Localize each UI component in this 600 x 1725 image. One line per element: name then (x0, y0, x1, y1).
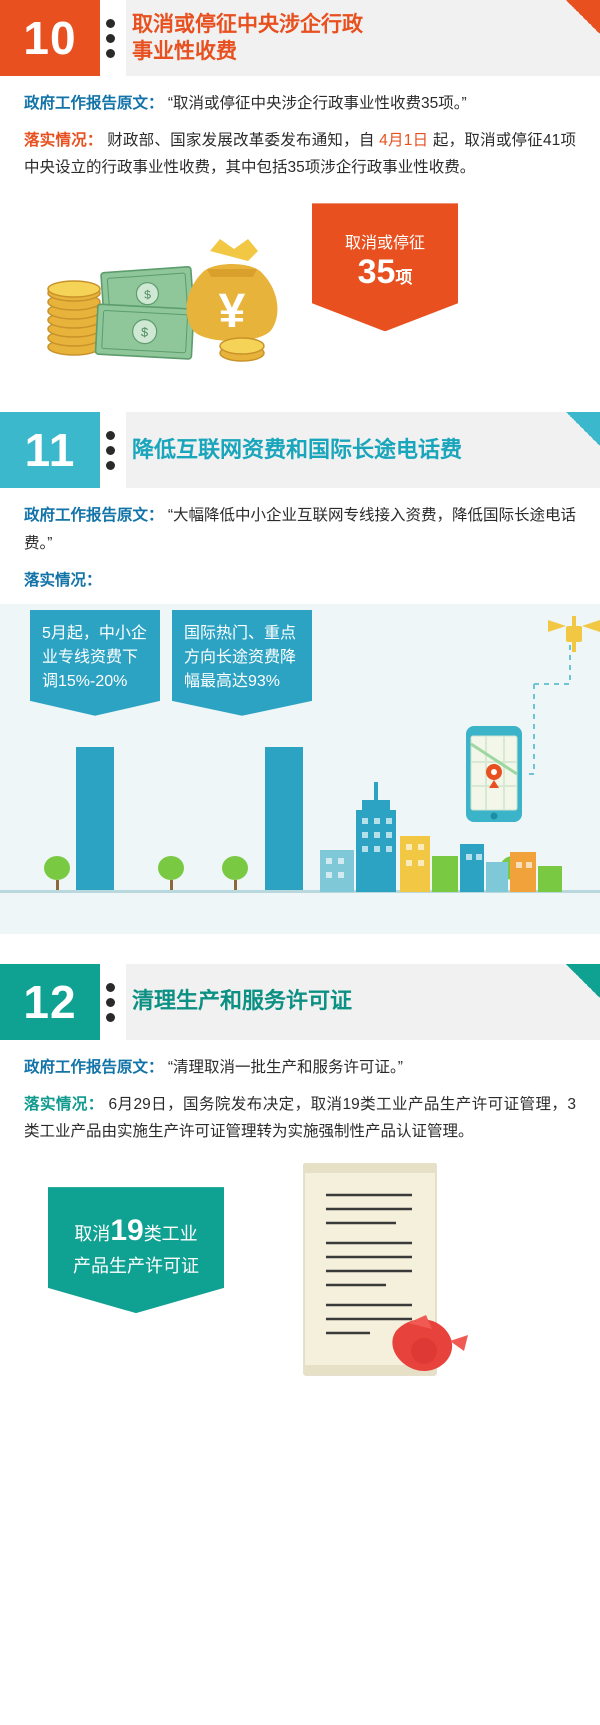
chart-bar-2 (265, 747, 303, 892)
section-11-callout-1-text: 5月起，中小企业专线资费下调15%-20% (42, 625, 147, 690)
section-10-callout-value-wrap: 35项 (312, 253, 458, 292)
section-11-graphic: 5月起，中小企业专线资费下调15%-20% 国际热门、重点方向长途资费降幅最高达… (0, 604, 600, 934)
corner-fold-icon (566, 0, 600, 34)
dots-divider-icon (100, 412, 126, 488)
section-11-illustration-svg (320, 604, 600, 934)
section-10-callout: 取消或停征 35项 (312, 203, 458, 331)
corner-fold-icon (566, 412, 600, 446)
money-illustration: $ $ ¥ (42, 207, 282, 367)
section-12-header: 12 清理生产和服务许可证 (0, 964, 600, 1040)
dots-divider-icon (100, 0, 126, 76)
section-10-callout-unit: 项 (395, 268, 412, 287)
section-11-callout-1: 5月起，中小企业专线资费下调15%-20% (30, 610, 160, 716)
section-10-callout-text: 取消或停征 (312, 229, 458, 253)
section-12-source-paragraph: 政府工作报告原文： “清理取消一批生产和服务许可证。” (24, 1054, 576, 1081)
section-12-number: 12 (0, 964, 100, 1040)
section-12-callout-suffix-a: 类工业 (144, 1224, 198, 1244)
section-11-header: 11 降低互联网资费和国际长途电话费 (0, 412, 600, 488)
section-10-status-highlight: 4月1日 (379, 132, 428, 149)
certificate-illustration (300, 1163, 475, 1381)
satellite-icon (548, 616, 600, 652)
section-12-source-label: 政府工作报告原文： (24, 1059, 164, 1076)
section-12-source-text: “清理取消一批生产和服务许可证。” (168, 1059, 403, 1076)
section-12-status-text: 6月29日，国务院发布决定，取消19类工业产品生产许可证管理，3类工业产品由实施… (24, 1096, 576, 1140)
section-10-status-label: 落实情况： (24, 132, 103, 149)
tree-icon (44, 856, 70, 890)
section-10: 10 取消或停征中央涉企行政 事业性收费 政府工作报告原文： “取消或停征中央涉… (0, 0, 600, 382)
section-12-graphic: 取消19类工业 产品生产许可证 (0, 1159, 600, 1389)
corner-fold-icon (566, 964, 600, 998)
section-11-callout-2-text: 国际热门、重点方向长途资费降幅最高达93% (184, 625, 296, 690)
section-12-callout-line-2: 产品生产许可证 (48, 1253, 224, 1279)
section-10-title-line-2: 事业性收费 (132, 38, 363, 65)
section-12-body: 政府工作报告原文： “清理取消一批生产和服务许可证。” 落实情况： 6月29日，… (0, 1040, 600, 1145)
section-12-title: 清理生产和服务许可证 (126, 964, 600, 1040)
svg-text:$: $ (144, 288, 152, 302)
chart-bar-1 (76, 747, 114, 892)
section-10-title-line-1: 取消或停征中央涉企行政 (132, 11, 363, 38)
section-11-body: 政府工作报告原文： “大幅降低中小企业互联网专线接入资费，降低国际长途电话费。”… (0, 488, 600, 593)
section-divider (0, 934, 600, 964)
section-12: 12 清理生产和服务许可证 政府工作报告原文： “清理取消一批生产和服务许可证。… (0, 964, 600, 1389)
section-11-status-paragraph: 落实情况： (24, 567, 576, 594)
section-12-status-paragraph: 落实情况： 6月29日，国务院发布决定，取消19类工业产品生产许可证管理，3类工… (24, 1091, 576, 1145)
smartphone-map-icon (466, 726, 522, 822)
section-11-status-label: 落实情况： (24, 572, 102, 589)
dots-divider-icon (100, 964, 126, 1040)
section-10-body: 政府工作报告原文： “取消或停征中央涉企行政事业性收费35项。” 落实情况： 财… (0, 76, 600, 181)
section-12-callout: 取消19类工业 产品生产许可证 (48, 1187, 224, 1313)
coin-single-icon (220, 338, 264, 361)
section-10-title: 取消或停征中央涉企行政 事业性收费 (126, 0, 600, 76)
money-bag-yen-icon: ¥ (187, 239, 278, 341)
section-10-status-paragraph: 落实情况： 财政部、国家发展改革委发布通知，自 4月1日 起，取消或停征41项中… (24, 127, 576, 181)
tree-icon (222, 856, 248, 890)
section-10-source-text: “取消或停征中央涉企行政事业性收费35项。” (168, 95, 467, 112)
section-12-callout-line-1: 取消19类工业 (48, 1209, 224, 1253)
section-10-callout-value: 35 (358, 253, 396, 291)
money-illustration-svg: $ $ ¥ (42, 207, 282, 372)
section-10-status-text-1: 财政部、国家发展改革委发布通知，自 (107, 132, 374, 149)
section-10-header: 10 取消或停征中央涉企行政 事业性收费 (0, 0, 600, 76)
section-12-status-label: 落实情况： (24, 1096, 104, 1113)
section-11-source-label: 政府工作报告原文： (24, 507, 164, 524)
coins-icon (48, 281, 100, 355)
section-10-number: 10 (0, 0, 100, 76)
section-11-title: 降低互联网资费和国际长途电话费 (126, 412, 600, 488)
section-11-callout-2: 国际热门、重点方向长途资费降幅最高达93% (172, 610, 312, 716)
banknotes-icon: $ $ (95, 267, 194, 359)
svg-text:¥: ¥ (219, 285, 246, 338)
section-11-source-paragraph: 政府工作报告原文： “大幅降低中小企业互联网专线接入资费，降低国际长途电话费。” (24, 502, 576, 556)
section-10-source-label: 政府工作报告原文： (24, 95, 164, 112)
infographic-page: 10 取消或停征中央涉企行政 事业性收费 政府工作报告原文： “取消或停征中央涉… (0, 0, 600, 1725)
tree-icon (158, 856, 184, 890)
certificate-scroll-svg (300, 1163, 475, 1383)
city-skyline-icon (320, 782, 562, 892)
section-11-number: 11 (0, 412, 100, 488)
section-12-callout-prefix: 取消 (74, 1224, 110, 1244)
section-10-source-paragraph: 政府工作报告原文： “取消或停征中央涉企行政事业性收费35项。” (24, 90, 576, 117)
section-10-graphic: $ $ ¥ (0, 197, 600, 382)
section-11: 11 降低互联网资费和国际长途电话费 政府工作报告原文： “大幅降低中小企业互联… (0, 412, 600, 933)
section-12-callout-value: 19 (110, 1214, 143, 1247)
section-divider (0, 382, 600, 412)
